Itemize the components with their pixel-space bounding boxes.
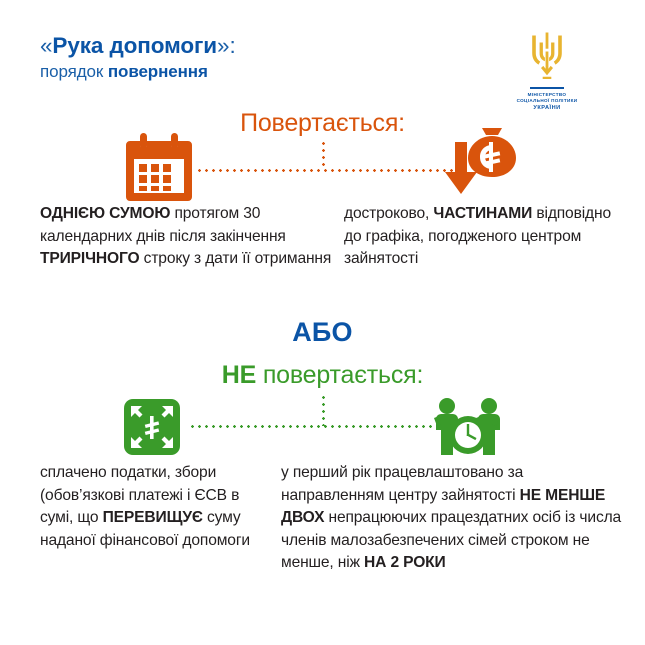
ministry-logo: МІНІСТЕРСТВО СОЦІАЛЬНОЇ ПОЛІТИКИ УКРАЇНИ bbox=[501, 32, 593, 111]
section-heading-returned: Повертається: bbox=[0, 108, 645, 138]
not-returned-heading-bold: НЕ bbox=[222, 361, 256, 389]
returned-left-part-2: строку з дати її отримання bbox=[139, 250, 331, 267]
not-returned-left-bold-1: ПЕРЕВИЩУЄ bbox=[103, 509, 203, 526]
people-with-clock-icon bbox=[428, 397, 508, 462]
connector-vertical-green bbox=[322, 394, 325, 426]
ukraine-trident-icon bbox=[529, 32, 565, 84]
returned-right-bold-1: ЧАСТИНАМИ bbox=[433, 205, 532, 222]
hryvnia-expand-arrows-icon bbox=[124, 399, 180, 460]
not-returned-right-bold-2: НА 2 РОКИ bbox=[364, 554, 446, 571]
header: «Рука допомоги»: порядок повернення МІНІ… bbox=[40, 32, 617, 116]
calendar-icon bbox=[126, 133, 192, 206]
returned-right-part-0: достроково, bbox=[344, 205, 433, 222]
returned-left-bold-1: ОДНІЄЮ СУМОЮ bbox=[40, 205, 170, 222]
section-heading-not-returned: НЕ повертається: bbox=[0, 360, 645, 390]
not-returned-left-text: сплачено податки, збори (обов’язкові пла… bbox=[40, 462, 268, 552]
subtitle-prefix: порядок bbox=[40, 62, 108, 81]
or-divider-label: АБО bbox=[0, 316, 645, 348]
returned-left-bold-2: ТРИРІЧНОГО bbox=[40, 250, 139, 267]
subtitle-bold: повернення bbox=[108, 62, 208, 81]
connector-horizontal-orange bbox=[196, 169, 454, 172]
page-title: «Рука допомоги»: порядок повернення bbox=[40, 32, 236, 83]
not-returned-right-part-0: у перший рік працевлаштовано за направле… bbox=[281, 464, 523, 504]
title-main: Рука допомоги bbox=[52, 33, 217, 58]
not-returned-right-part-1: непрацюючих працездатних осіб із числа ч… bbox=[281, 509, 621, 571]
title-quote-close: »: bbox=[217, 33, 236, 58]
title-line-2: порядок повернення bbox=[40, 61, 236, 83]
title-quote-open: « bbox=[40, 33, 52, 58]
money-bag-down-arrow-icon bbox=[437, 126, 521, 207]
not-returned-heading-rest: повертається: bbox=[256, 361, 423, 389]
infographic-page: «Рука допомоги»: порядок повернення МІНІ… bbox=[0, 0, 645, 645]
returned-right-text: достроково, ЧАСТИНАМИ відповідно до граф… bbox=[344, 203, 624, 271]
logo-divider-rule bbox=[530, 87, 564, 89]
not-returned-right-text: у перший рік працевлаштовано за направле… bbox=[281, 462, 626, 575]
returned-left-text: ОДНІЄЮ СУМОЮ протягом 30 календарних дні… bbox=[40, 203, 332, 271]
title-line-1: «Рука допомоги»: bbox=[40, 32, 236, 59]
connector-vertical-orange bbox=[322, 140, 325, 170]
